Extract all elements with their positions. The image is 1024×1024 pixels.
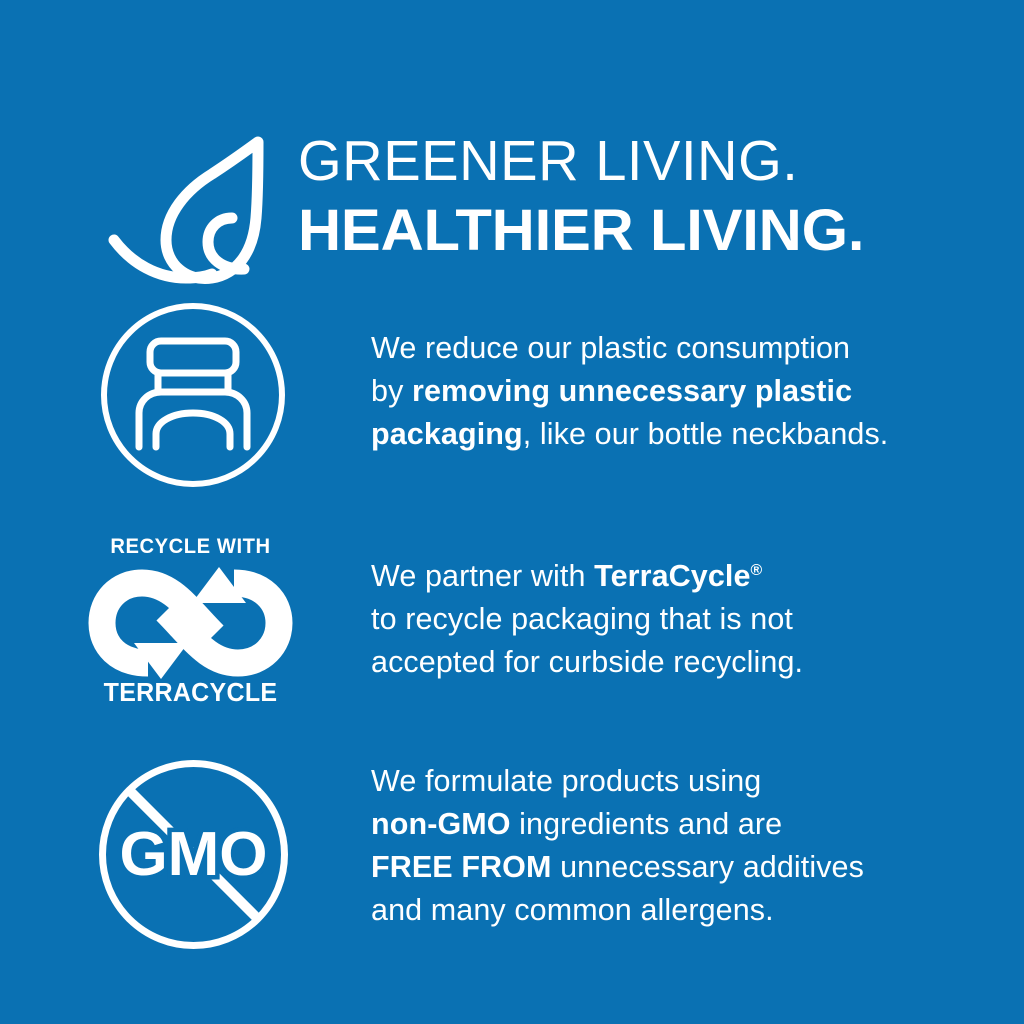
copy-line: We formulate products using — [371, 760, 991, 803]
headline-text: GREENER LIVING. HEALTHIER LIVING. — [298, 130, 998, 264]
benefit-copy-gmo: We formulate products usingnon-GMO ingre… — [371, 760, 991, 932]
headline-line-1: GREENER LIVING. — [298, 130, 988, 192]
terracycle-top-text: RECYCLE WITH — [92, 535, 289, 559]
copy-line: We reduce our plastic consumption — [371, 327, 991, 370]
copy-line: accepted for curbside recycling. — [371, 641, 991, 684]
copy-line: packaging, like our bottle neckbands. — [371, 413, 991, 456]
infinity-recycle-icon — [88, 565, 293, 681]
benefit-copy-terracycle: We partner with TerraCycle®to recycle pa… — [371, 555, 991, 684]
copy-line: by removing unnecessary plastic — [371, 370, 991, 413]
copy-line: FREE FROM unnecessary additives — [371, 846, 991, 889]
leaf-icon — [108, 132, 288, 292]
gmo-icon-label: GMO — [119, 820, 267, 889]
benefit-row-plastic: We reduce our plastic consumptionby remo… — [0, 295, 1024, 495]
copy-line: and many common allergens. — [371, 889, 991, 932]
copy-line: non-GMO ingredients and are — [371, 803, 991, 846]
benefit-row-gmo: GMO We formulate products usingnon-GMO i… — [0, 755, 1024, 955]
benefit-copy-plastic: We reduce our plastic consumptionby remo… — [371, 327, 991, 456]
headline-block: GREENER LIVING. HEALTHIER LIVING. — [0, 60, 1024, 240]
copy-line: We partner with TerraCycle® — [371, 555, 991, 598]
bottle-in-circle-icon — [98, 300, 288, 490]
headline-line-2: HEALTHIER LIVING. — [298, 198, 1019, 264]
registered-mark-icon: ® — [264, 659, 271, 670]
terracycle-logo: RECYCLE WITH ® — [88, 535, 293, 715]
no-gmo-icon: GMO — [96, 757, 291, 952]
terracycle-bottom-text: TERRACYCLE — [90, 679, 291, 708]
greener-living-infographic: GREENER LIVING. HEALTHIER LIVING. — [0, 0, 1024, 1024]
copy-line: to recycle packaging that is not — [371, 598, 991, 641]
benefit-row-terracycle: RECYCLE WITH ® — [0, 530, 1024, 715]
